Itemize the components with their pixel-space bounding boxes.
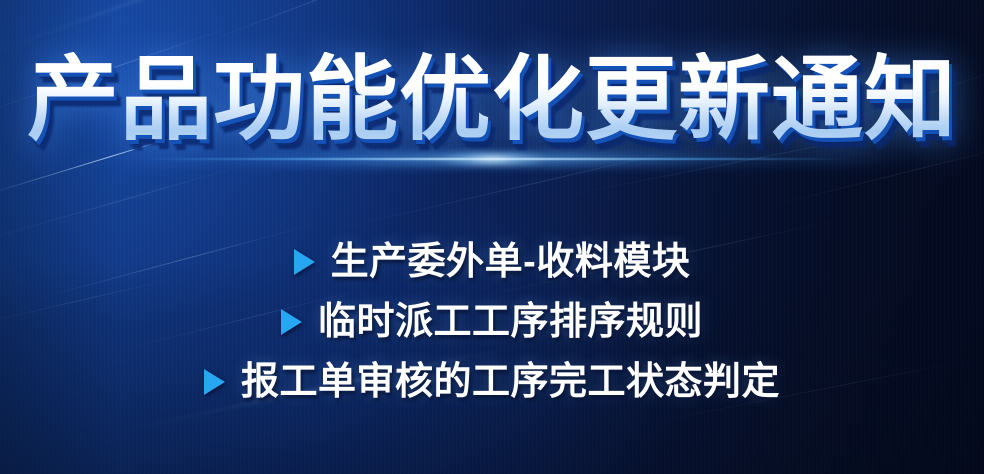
- list-item-label: 生产委外单-收料模块: [331, 240, 691, 284]
- feature-list: 生产委外单-收料模块 临时派工工序排序规则 报工单审核的工序完工状态判定: [0, 232, 984, 412]
- play-triangle-icon: [281, 309, 302, 335]
- promo-banner: 产品功能优化更新通知 生产委外单-收料模块 临时派工工序排序规则 报工单审核的工…: [0, 0, 984, 474]
- title-light-beam: [0, 148, 984, 170]
- play-triangle-icon: [294, 249, 315, 275]
- page-title: 产品功能优化更新通知: [0, 52, 984, 148]
- list-item-label: 临时派工工序排序规则: [318, 300, 703, 344]
- streak-line: [200, 0, 508, 45]
- list-item: 临时派工工序排序规则: [0, 292, 984, 352]
- light-beam-hotspot: [433, 152, 551, 166]
- list-item: 报工单审核的工序完工状态判定: [0, 352, 984, 412]
- list-item: 生产委外单-收料模块: [0, 232, 984, 292]
- play-triangle-icon: [204, 369, 225, 395]
- list-item-label: 报工单审核的工序完工状态判定: [241, 360, 780, 404]
